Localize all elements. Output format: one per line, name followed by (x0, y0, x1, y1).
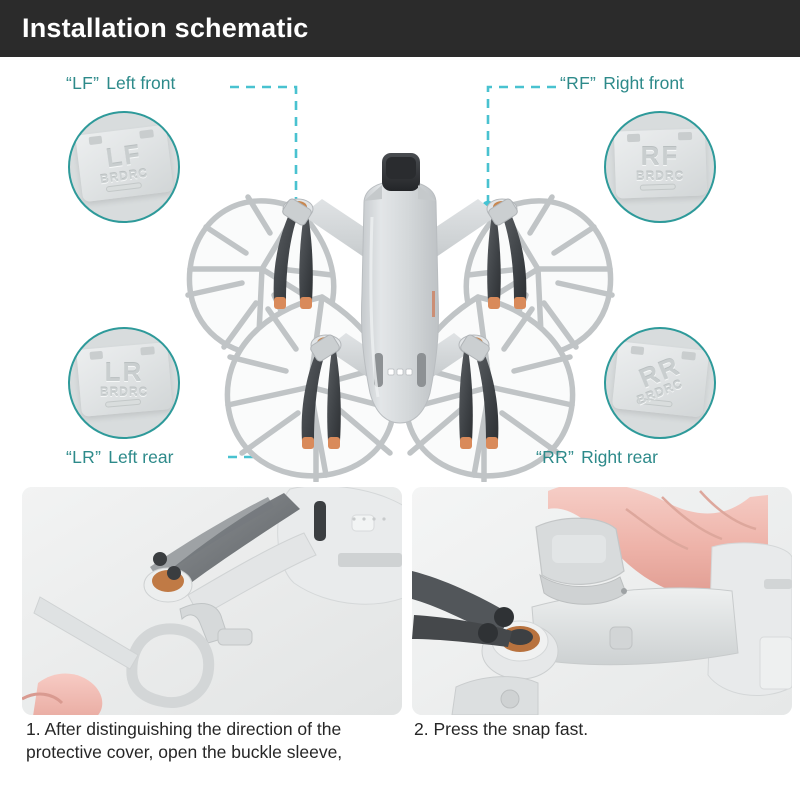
label-rr-code: “RR” (536, 447, 574, 467)
notch-left (630, 346, 644, 355)
label-rr: “RR”Right rear (536, 447, 658, 468)
label-rf: “RF”Right front (560, 73, 684, 94)
label-rf-code: “RF” (560, 73, 596, 93)
part-tab (104, 399, 141, 408)
label-lr: “LR”Left rear (66, 447, 173, 468)
drone-body (361, 153, 438, 423)
buckle-cover-photo2 (536, 518, 627, 604)
label-rr-name: Right rear (581, 447, 658, 467)
label-lf-code: “LF” (66, 73, 99, 93)
page-title: Installation schematic (0, 13, 309, 44)
photo-2-scene (412, 487, 792, 715)
step-1-caption: 1. After distinguishing the direction of… (26, 718, 398, 765)
part-tab (639, 183, 675, 190)
notch-right (140, 346, 154, 355)
step-2-photo (412, 487, 792, 715)
label-rf-name: Right front (603, 73, 684, 93)
schematic-region: “LF”Left front “RF”Right front “LR”Left … (0, 57, 800, 482)
battery-indicator (388, 369, 412, 375)
photo-1-scene (22, 487, 402, 715)
callout-rf-emboss: RF (606, 141, 714, 172)
callout-rf-brand: BRDRC (606, 169, 714, 183)
callout-rf: RF BRDRC (604, 111, 716, 223)
label-lr-name: Left rear (108, 447, 173, 467)
notch-right (678, 132, 692, 141)
step-photos (0, 487, 800, 717)
callout-rr: RR BRDRC (604, 327, 716, 439)
label-lf-name: Left front (106, 73, 175, 93)
callout-lr: LR BRDRC (68, 327, 180, 439)
label-lf: “LF”Left front (66, 73, 175, 94)
callout-lr-emboss: LR (70, 357, 178, 388)
step-1-photo (22, 487, 402, 715)
step-captions: 1. After distinguishing the direction of… (0, 718, 800, 800)
snap-button (610, 627, 632, 649)
callout-lf: LF BRDRC (68, 111, 180, 223)
vent-right (417, 353, 426, 387)
label-lr-code: “LR” (66, 447, 101, 467)
header-bar: Installation schematic (0, 0, 800, 57)
step-2-caption: 2. Press the snap fast. (414, 718, 786, 741)
callout-lr-brand: BRDRC (70, 385, 178, 399)
drone-illustration (150, 57, 650, 482)
